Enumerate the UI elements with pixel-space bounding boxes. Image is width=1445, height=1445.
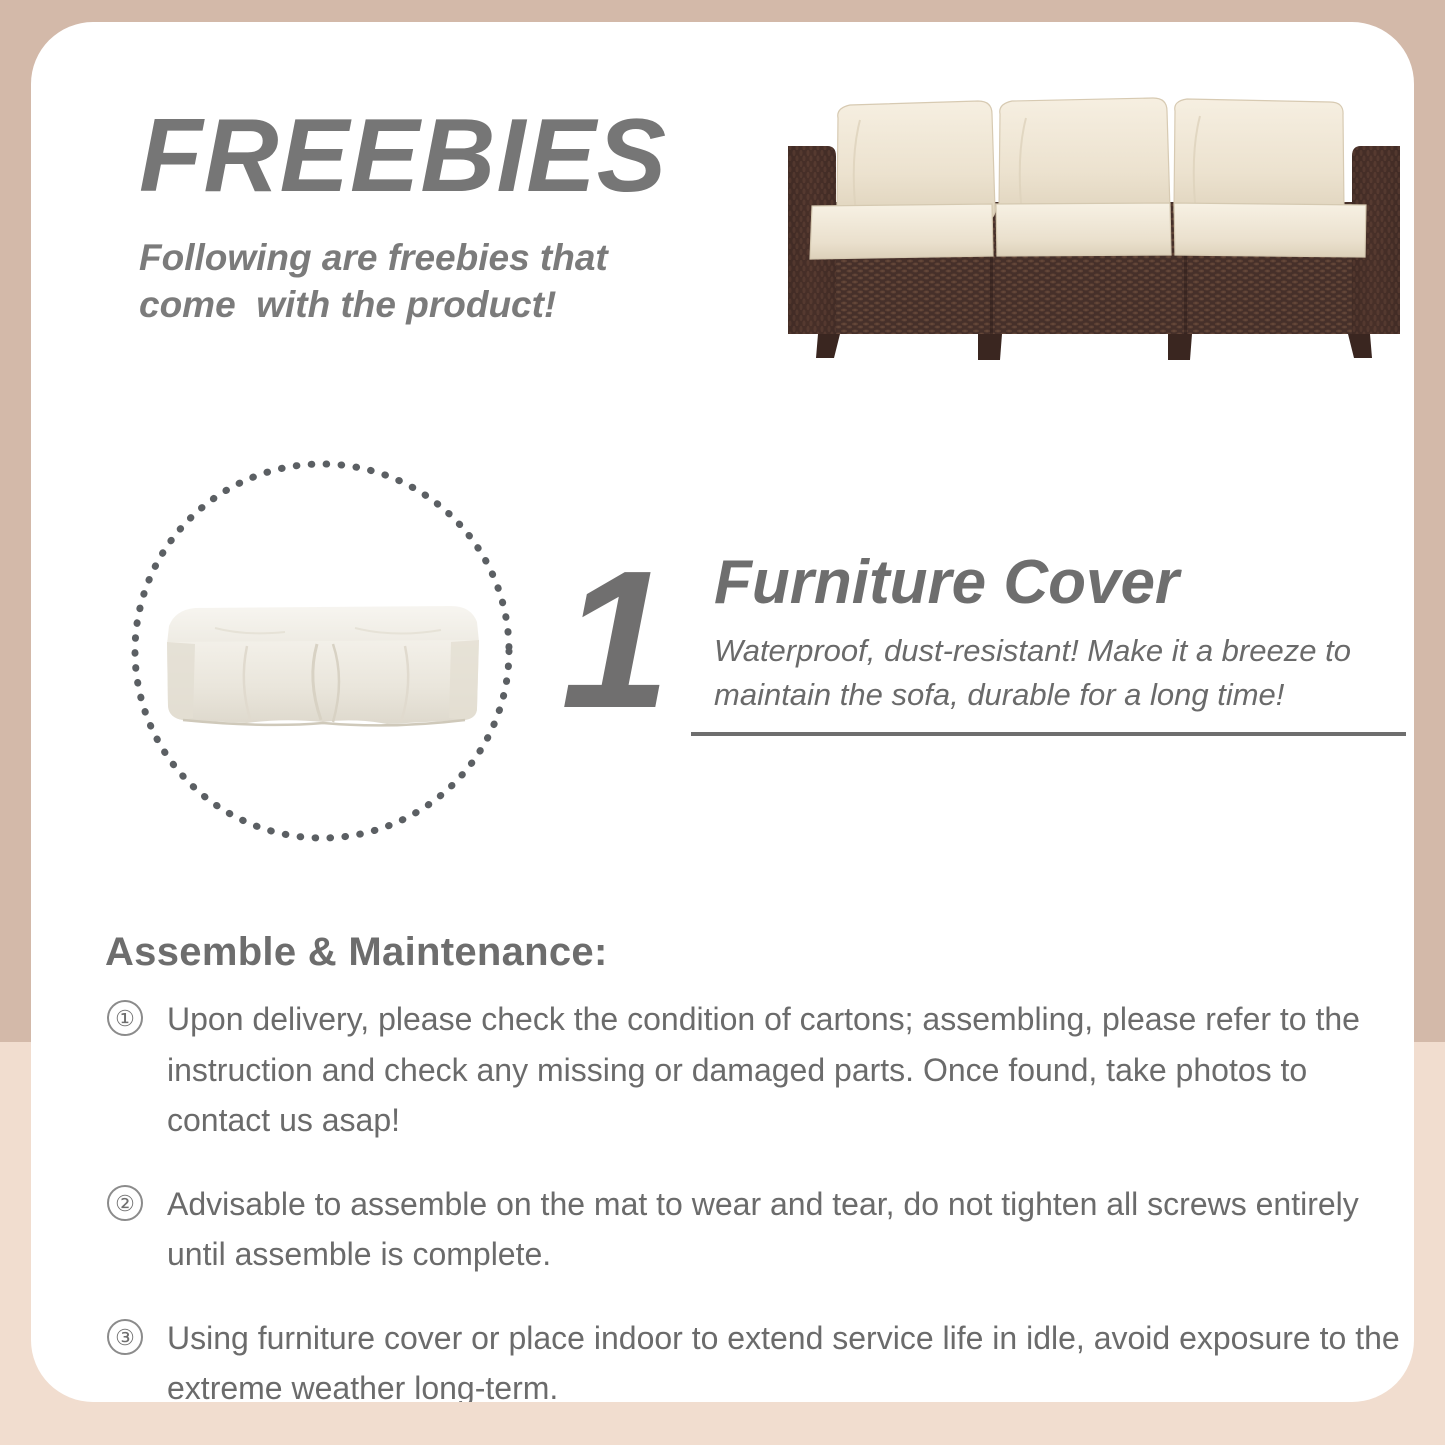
list-item: ① Upon delivery, please check the condit… (107, 994, 1407, 1146)
list-item-text: Using furniture cover or place indoor to… (167, 1313, 1407, 1402)
feature-block: Furniture Cover Waterproof, dust-resista… (714, 550, 1414, 717)
content-card: FREEBIES Following are freebies that com… (31, 22, 1414, 1402)
page-background: FREEBIES Following are freebies that com… (0, 0, 1445, 1445)
sofa-photo (764, 84, 1414, 362)
furniture-cover-photo (155, 592, 491, 738)
feature-divider (691, 732, 1406, 736)
list-item-text: Upon delivery, please check the conditio… (167, 994, 1407, 1146)
list-item-marker: ② (107, 1185, 143, 1221)
feature-description: Waterproof, dust-resistant! Make it a br… (714, 629, 1414, 717)
maintenance-heading: Assemble & Maintenance: (105, 930, 608, 975)
list-item: ③ Using furniture cover or place indoor … (107, 1313, 1407, 1402)
furniture-cover-figure (127, 456, 517, 846)
list-item-marker: ① (107, 1000, 143, 1036)
maintenance-list: ① Upon delivery, please check the condit… (107, 994, 1407, 1402)
list-item: ② Advisable to assemble on the mat to we… (107, 1179, 1407, 1280)
page-subtitle: Following are freebies that come with th… (139, 234, 779, 329)
list-item-text: Advisable to assemble on the mat to wear… (167, 1179, 1407, 1280)
feature-title: Furniture Cover (714, 550, 1414, 615)
list-item-marker: ③ (107, 1319, 143, 1355)
page-title: FREEBIES (139, 104, 779, 208)
feature-number: 1 (561, 542, 670, 738)
header-block: FREEBIES Following are freebies that com… (139, 104, 779, 329)
